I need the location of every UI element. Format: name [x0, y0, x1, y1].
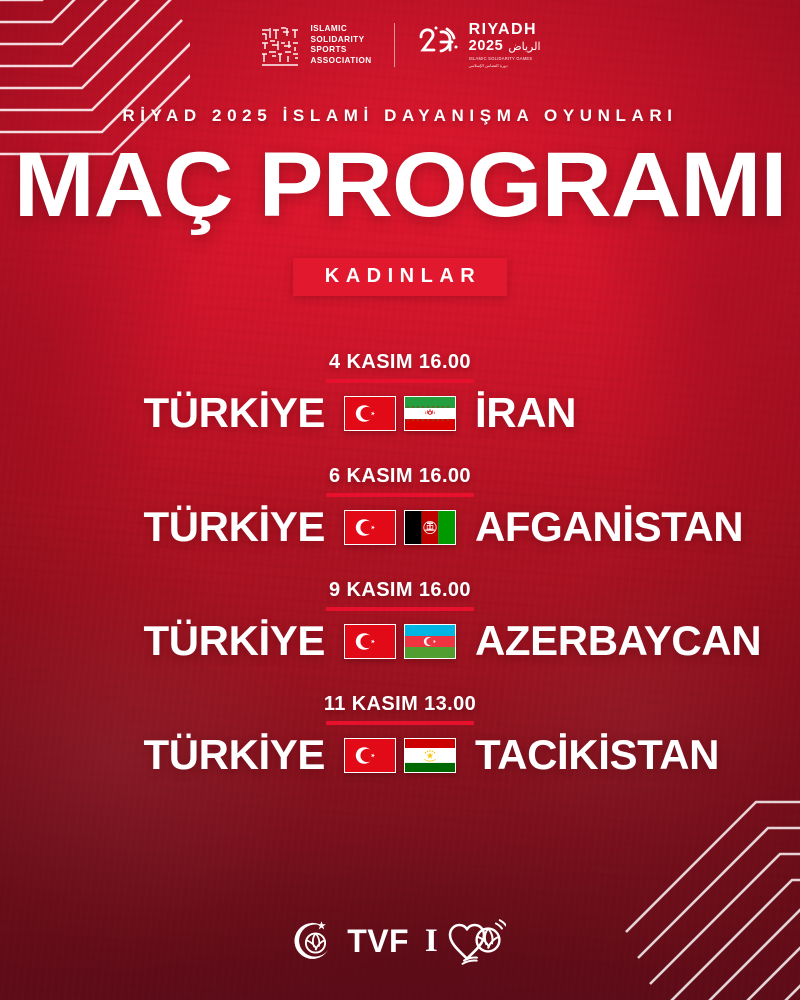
flag-turkey-icon [344, 624, 396, 659]
away-team-name: TACİKİSTAN [475, 734, 730, 776]
tvf-wordmark: TVF [347, 925, 409, 957]
match-list: 4 KASIM 16.00 TÜRKİYE [0, 352, 800, 808]
match-row: 11 KASIM 13.00 TÜRKİYE [0, 694, 800, 808]
match-row: 4 KASIM 16.00 TÜRKİYE [0, 352, 800, 466]
match-row: 6 KASIM 16.00 TÜRKİYE [0, 466, 800, 580]
chevron-decoration-bottom-right [608, 776, 800, 1000]
category-badge-wrap: KADINLAR [0, 258, 800, 296]
logo-divider [394, 23, 395, 67]
match-date-underline [326, 721, 474, 725]
tvf-logo: TVF [294, 918, 409, 964]
header-logo-bar: ISLAMIC SOLIDARITY SPORTS ASSOCIATION [0, 22, 800, 69]
match-flags [344, 396, 456, 431]
match-date-time: 9 KASIM 16.00 [0, 580, 800, 600]
home-team-name: TÜRKİYE [70, 620, 325, 662]
match-date-underline [326, 493, 474, 497]
riyadh-year: 2025 [469, 38, 504, 55]
i-love-volleyball-logo: I [425, 916, 506, 966]
flag-turkey-icon [344, 738, 396, 773]
home-team-name: TÜRKİYE [70, 734, 325, 776]
flag-turkey-icon [344, 396, 396, 431]
match-date-time: 4 KASIM 16.00 [0, 352, 800, 372]
issa-logo-text: ISLAMIC SOLIDARITY SPORTS ASSOCIATION [310, 24, 371, 68]
islamic-calligraphy-icon [259, 24, 301, 66]
flag-afghanistan-icon [404, 510, 456, 545]
riyadh-subtitle-en: ISLAMIC SOLIDARITY GAMES [469, 56, 541, 62]
page-title: MAÇ PROGRAMI [0, 139, 800, 231]
match-date-time: 6 KASIM 16.00 [0, 466, 800, 486]
match-date-time: 11 KASIM 13.00 [0, 694, 800, 714]
match-row: 9 KASIM 16.00 TÜRKİYE [0, 580, 800, 694]
home-team-name: TÜRKİYE [70, 392, 325, 434]
match-date-underline [326, 379, 474, 383]
match-date-underline [326, 607, 474, 611]
issa-logo: ISLAMIC SOLIDARITY SPORTS ASSOCIATION [259, 24, 371, 68]
footer-logos: TVF I [0, 916, 800, 966]
match-flags [344, 510, 456, 545]
category-badge: KADINLAR [293, 258, 507, 296]
match-schedule-poster: ISLAMIC SOLIDARITY SPORTS ASSOCIATION [0, 0, 800, 1000]
riyadh-logo-text: RIYADH 2025 الرياض ISLAMIC SOLIDARITY GA… [469, 22, 541, 69]
home-team-name: TÜRKİYE [70, 506, 325, 548]
away-team-name: AFGANİSTAN [475, 506, 730, 548]
flag-turkey-icon [344, 510, 396, 545]
riyadh-25-emblem-icon [417, 24, 461, 66]
match-flags [344, 738, 456, 773]
tvf-crescent-volleyball-icon [294, 918, 338, 964]
heart-volleyball-icon [440, 916, 506, 966]
away-team-name: AZERBAYCAN [475, 620, 730, 662]
match-flags [344, 624, 456, 659]
riyadh-name-en: RIYADH [469, 22, 541, 38]
flag-azerbaijan-icon [404, 624, 456, 659]
riyadh-name-ar: الرياض [508, 41, 540, 54]
away-team-name: İRAN [475, 392, 730, 434]
flag-tajikistan-icon [404, 738, 456, 773]
flag-iran-icon [404, 396, 456, 431]
riyadh-subtitle-ar: دورة التضامن الإسلامي [469, 63, 541, 69]
riyadh-2025-logo: RIYADH 2025 الرياض ISLAMIC SOLIDARITY GA… [417, 22, 541, 69]
letter-i: I [425, 925, 438, 958]
event-kicker-text: RİYAD 2025 İSLAMİ DAYANIŞMA OYUNLARI [0, 106, 800, 126]
